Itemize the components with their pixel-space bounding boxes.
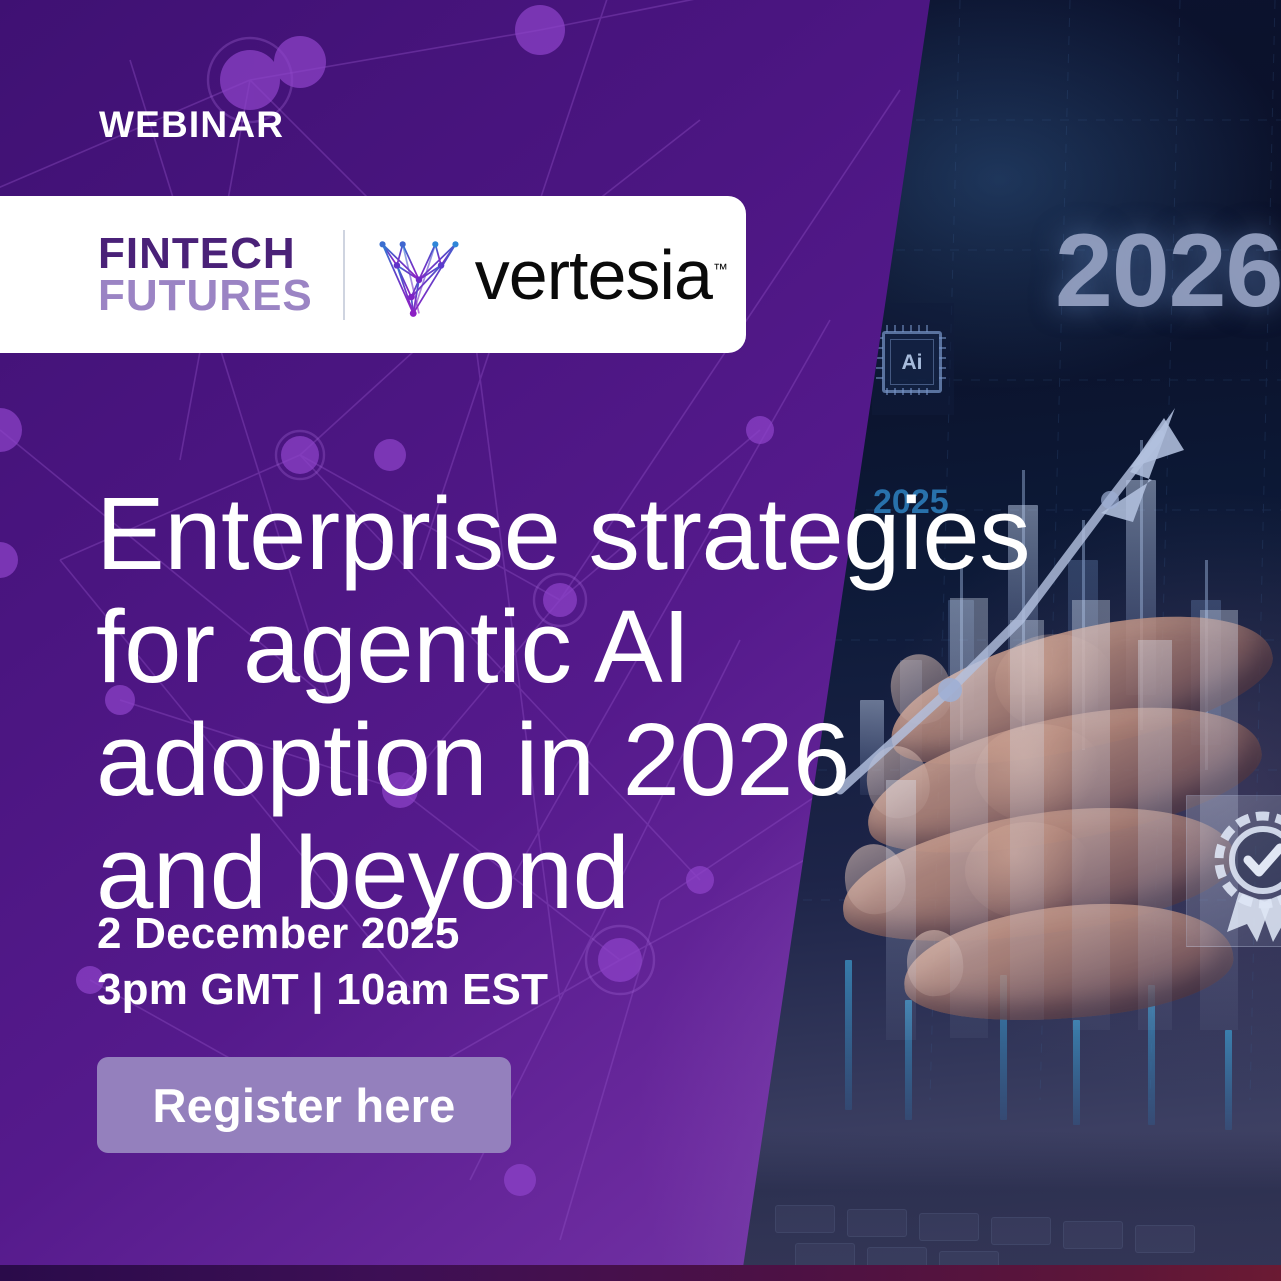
webinar-time: 3pm GMT | 10am EST xyxy=(97,962,548,1018)
vertesia-v-network-mark xyxy=(371,227,467,323)
webinar-promo-poster: Ai xyxy=(0,0,1281,1281)
artwork-year-2026: 2026 xyxy=(1055,212,1281,331)
fintech-futures-line2: FUTURES xyxy=(98,275,313,316)
logo-divider xyxy=(343,230,345,320)
fintech-futures-logo[interactable]: FINTECH FUTURES xyxy=(98,233,313,316)
page-title: Enterprise strategies for agentic AI ado… xyxy=(96,477,1246,929)
bottom-accent-strip xyxy=(0,1265,1281,1281)
keyboard-base xyxy=(735,1131,1281,1281)
logo-lockup-bar: FINTECH FUTURES xyxy=(0,196,746,353)
register-here-label: Register here xyxy=(152,1078,455,1133)
vertesia-wordmark: vertesia™ xyxy=(475,235,727,315)
register-here-button[interactable]: Register here xyxy=(97,1057,511,1153)
eyebrow-label: WEBINAR xyxy=(99,104,284,146)
vertesia-trademark: ™ xyxy=(713,261,727,278)
vertesia-logo[interactable]: vertesia™ xyxy=(371,227,727,323)
fintech-futures-line1: FINTECH xyxy=(98,233,313,274)
webinar-date: 2 December 2025 xyxy=(97,906,548,962)
schedule-block: 2 December 2025 3pm GMT | 10am EST xyxy=(97,906,548,1018)
vertesia-name: vertesia xyxy=(475,236,712,314)
